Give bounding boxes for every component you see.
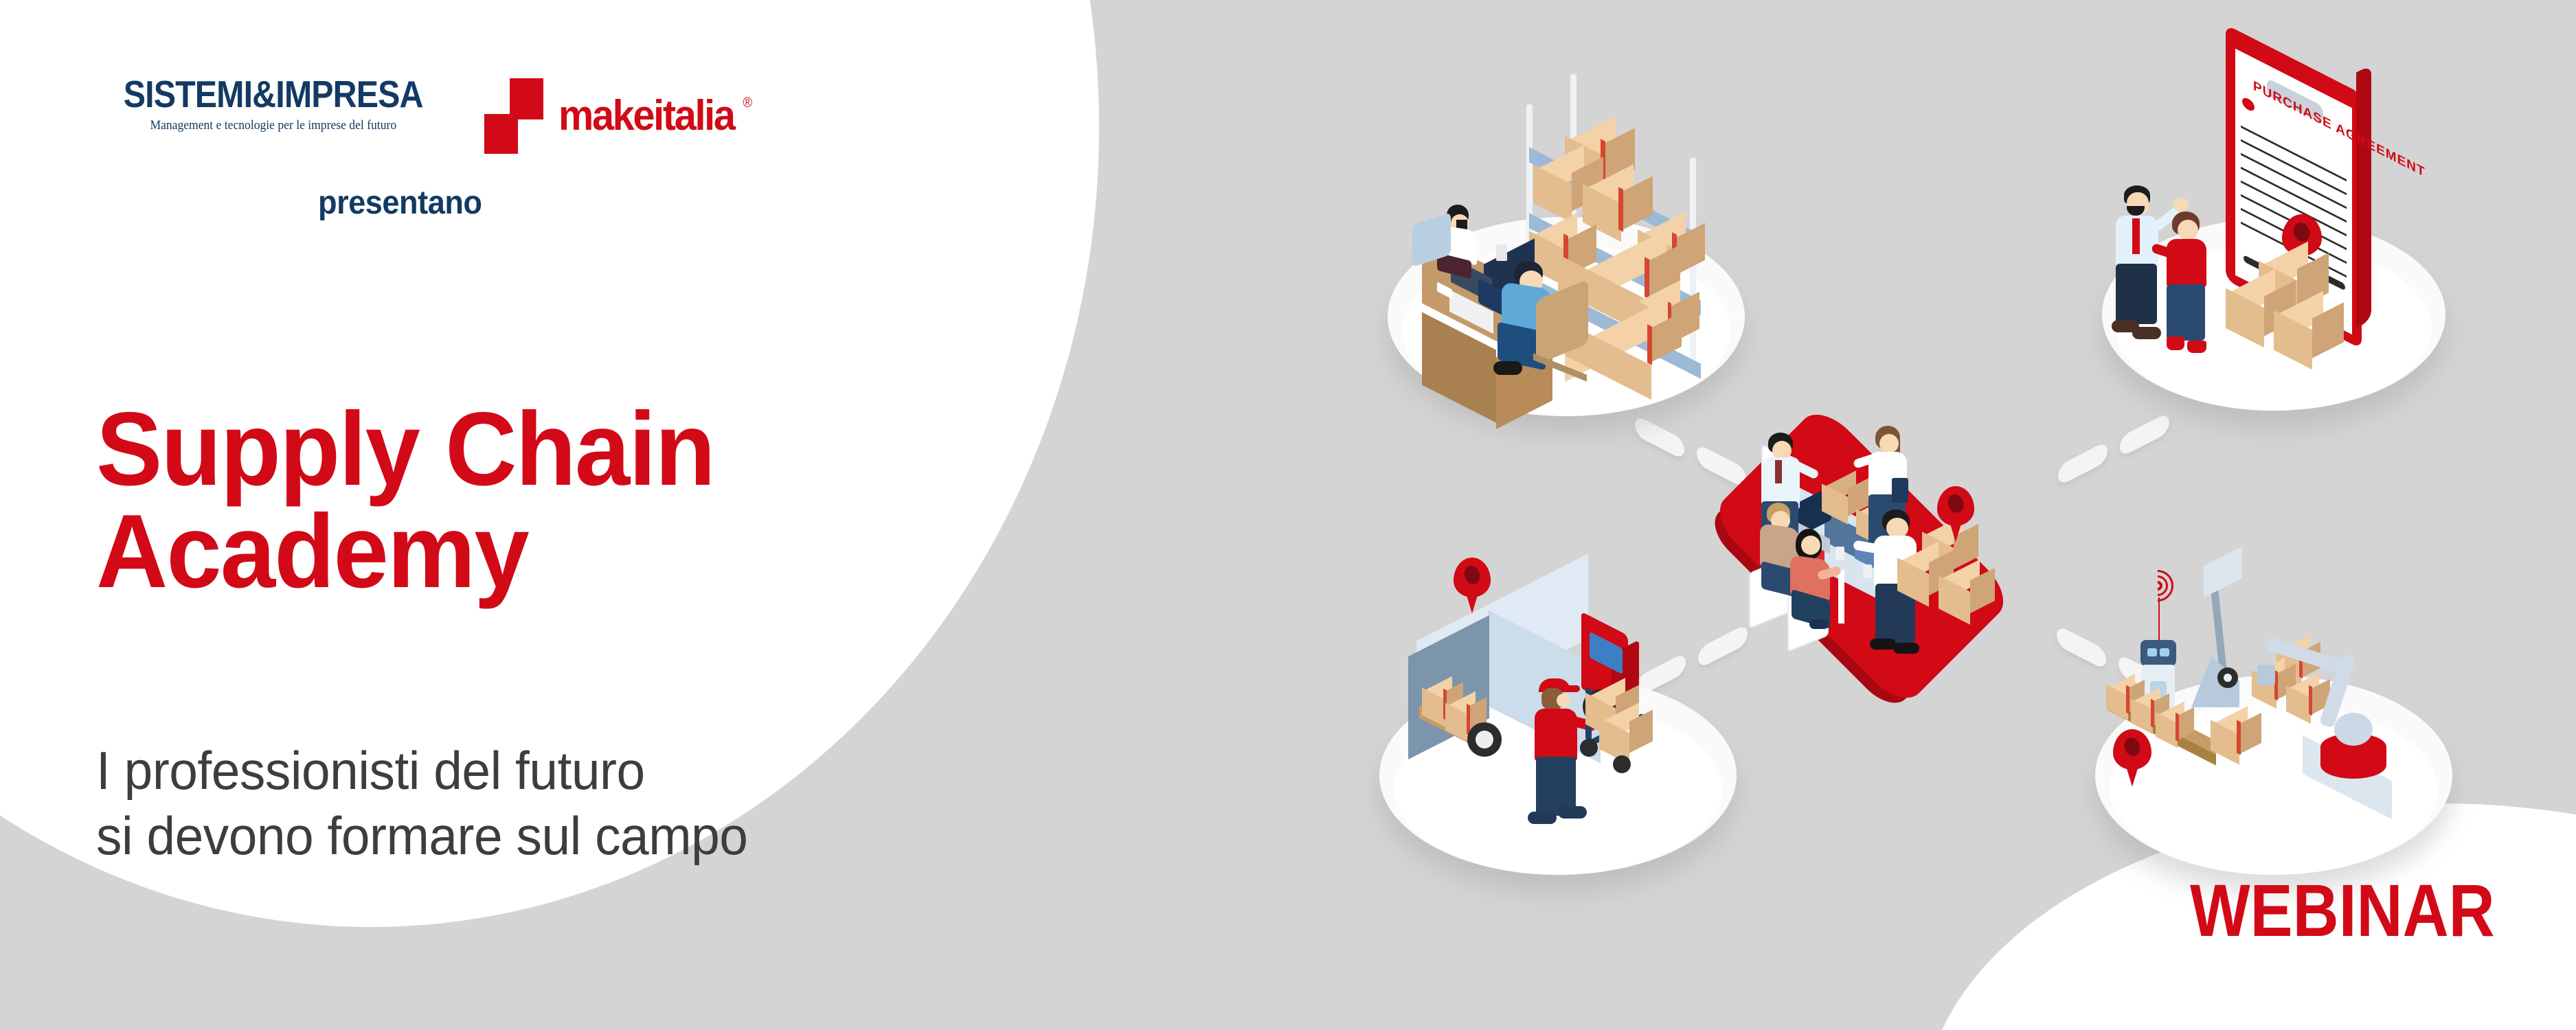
webinar-banner: SISTEMI&IMPRESA Management e tecnologie … <box>0 0 2576 1030</box>
agv-robot-head <box>2140 640 2176 666</box>
pallet-jack-plate <box>2204 547 2242 598</box>
makeitalia-logo[interactable]: makeitalia ® <box>484 78 747 154</box>
scene-truck-loading <box>1340 529 1779 900</box>
cardboard-box <box>1939 570 1996 623</box>
robot-arm-gripper <box>2257 665 2275 685</box>
registered-trademark-icon: ® <box>743 96 751 110</box>
makeitalia-squares-icon <box>484 78 543 154</box>
scene-warehouse-automation <box>2068 529 2494 900</box>
cardboard-box-in-transit <box>2211 716 2263 765</box>
wifi-signal-icon <box>2139 562 2180 603</box>
person-seated-right <box>1785 529 1844 633</box>
presents-label: presentano <box>318 187 482 220</box>
scene-contract-handshake: PURCHASE AGREEMENT <box>2054 34 2494 446</box>
page-title: Supply Chain Academy <box>96 398 747 603</box>
makeitalia-wordmark-text: makeitalia <box>558 92 734 139</box>
cardboard-box <box>2156 709 2195 747</box>
signal-link-line <box>2158 597 2160 644</box>
illustration-node-purchase-agreement: PURCHASE AGREEMENT <box>2054 34 2494 446</box>
hand-truck-wheel <box>1613 755 1631 773</box>
sistemi-impresa-logo[interactable]: SISTEMI&IMPRESA Management e tecnologie … <box>103 76 443 133</box>
hand-truck-wheel <box>1580 739 1598 757</box>
status-badge: WEBINAR <box>2190 873 2495 948</box>
supply-chain-illustration: PURCHASE AGREEMENT <box>1340 7 2535 920</box>
agv-robot-eye <box>2147 648 2157 656</box>
sistemi-impresa-tagline: Management e tecnologie per le imprese d… <box>150 119 396 133</box>
title-line-1: Supply Chain <box>96 398 714 501</box>
cardboard-box <box>2274 304 2345 369</box>
title-line-2: Academy <box>96 501 714 603</box>
makeitalia-wordmark: makeitalia ® <box>558 95 734 137</box>
connector-dash <box>2058 441 2108 487</box>
cardboard-box-on-handtruck <box>1599 713 1654 764</box>
subtitle-line-2: si devono formare sul campo <box>96 803 747 869</box>
robot-arm-joint <box>2334 713 2373 746</box>
location-pin-icon <box>1454 558 1491 608</box>
subtitle-line-1: I professionisti del futuro <box>96 738 747 803</box>
truck-wheel <box>1467 722 1502 757</box>
page-subtitle: I professionisti del futuro si devono fo… <box>96 738 775 869</box>
location-pin-icon <box>2113 729 2151 781</box>
illustration-node-automation <box>2068 529 2494 900</box>
sistemi-impresa-wordmark: SISTEMI&IMPRESA <box>124 76 423 113</box>
logo-lockup: SISTEMI&IMPRESA Management e tecnologie … <box>103 76 747 154</box>
clipboard-edge <box>2356 65 2371 328</box>
pallet-jack-wheel <box>2217 667 2238 688</box>
agv-robot-eye <box>2160 648 2169 656</box>
person-businesswoman <box>2157 211 2226 361</box>
location-pin-icon <box>1937 486 1974 537</box>
coffee-cup <box>1496 244 1507 261</box>
illustration-node-delivery-truck <box>1340 529 1779 900</box>
